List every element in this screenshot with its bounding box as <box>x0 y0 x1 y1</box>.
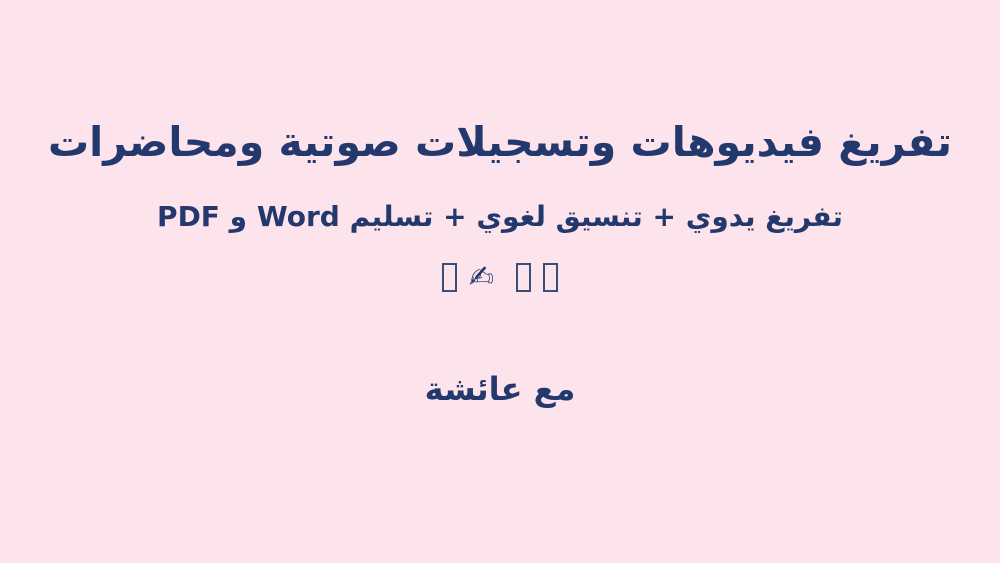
tofu-box-icon <box>442 263 457 292</box>
slide-title: تفريغ فيديوهات وتسجيلات صوتية ومحاضرات <box>0 118 1000 166</box>
slide-canvas: تفريغ فيديوهات وتسجيلات صوتية ومحاضرات ت… <box>0 0 1000 563</box>
tofu-box-icon <box>543 263 558 292</box>
slide-credit: مع عائشة <box>0 369 1000 409</box>
writing-hand-icon: ✍ <box>469 263 494 293</box>
tofu-box-icon <box>516 263 531 292</box>
slide-subtitle: تفريغ يدوي + تنسيق لغوي + تسليم Word و P… <box>0 199 1000 234</box>
emoji-glyph-row: ✍ <box>0 256 1000 298</box>
